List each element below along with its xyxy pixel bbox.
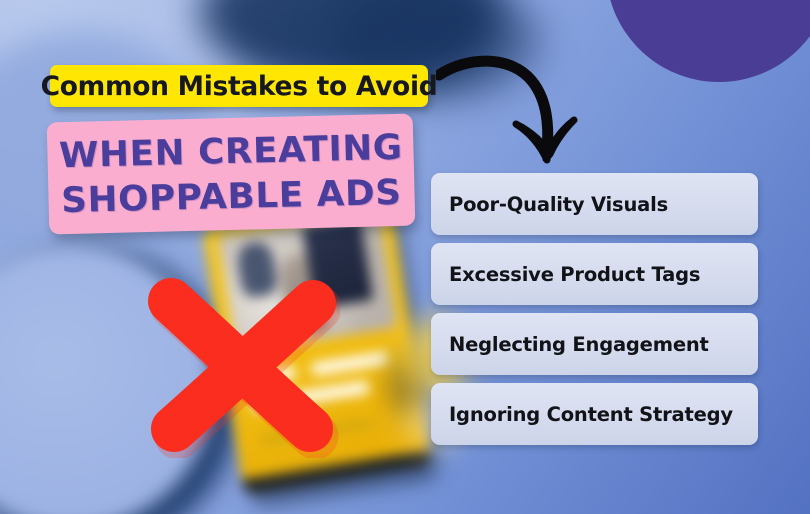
headline-line-2: SHOPPABLE ADS	[61, 171, 402, 224]
list-item-label: Neglecting Engagement	[449, 333, 709, 356]
list-item-label: Excessive Product Tags	[449, 263, 700, 286]
infographic-canvas: Common Mistakes to Avoid WHEN CREATING S…	[0, 0, 810, 514]
eyebrow-banner-text: Common Mistakes to Avoid	[41, 71, 438, 102]
eyebrow-banner: Common Mistakes to Avoid	[50, 65, 428, 107]
list-item-label: Poor-Quality Visuals	[449, 193, 668, 216]
headline-banner: WHEN CREATING SHOPPABLE ADS	[47, 114, 416, 235]
list-item-label: Ignoring Content Strategy	[449, 403, 733, 426]
red-x-mark-icon	[144, 272, 340, 458]
curved-down-arrow-icon	[436, 48, 616, 178]
list-item: Poor-Quality Visuals	[431, 173, 758, 235]
list-item: Neglecting Engagement	[431, 313, 758, 375]
mistake-list: Poor-Quality Visuals Excessive Product T…	[431, 173, 758, 453]
list-item: Excessive Product Tags	[431, 243, 758, 305]
list-item: Ignoring Content Strategy	[431, 383, 758, 445]
